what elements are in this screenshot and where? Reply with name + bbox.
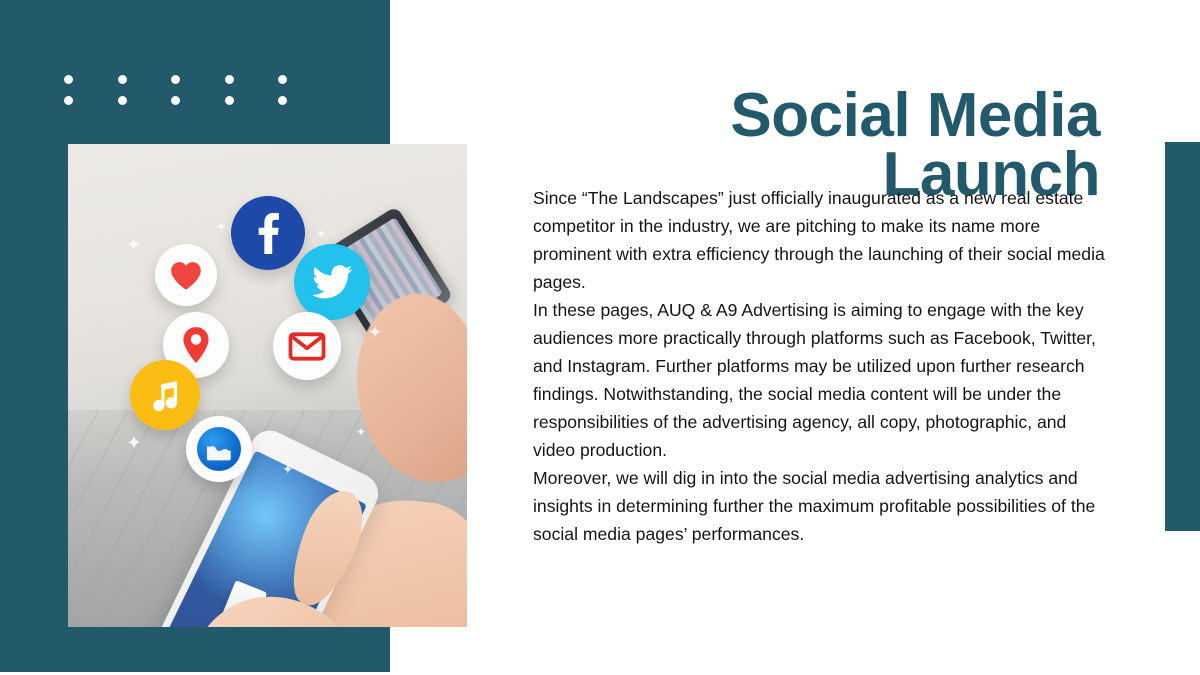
twitter-glyph [311, 265, 353, 300]
decorative-dot [278, 75, 287, 84]
location-pin-glyph [181, 326, 211, 364]
sparkle-icon: ✦ [216, 220, 227, 233]
sparkle-icon: ✦ [316, 228, 326, 240]
sparkle-icon: ✦ [282, 462, 294, 476]
paragraph-2: In these pages, AUQ & A9 Advertising is … [533, 296, 1113, 464]
heart-icon [155, 244, 217, 306]
facebook-icon [231, 196, 305, 270]
sparkle-icon: ✦ [126, 434, 142, 453]
right-teal-accent-bar [1165, 142, 1200, 531]
sparkle-icon: ✦ [356, 426, 366, 438]
sparkle-icon: ✦ [126, 236, 141, 254]
music-note-glyph [148, 378, 182, 412]
social-media-photo: ✦ ✦ ✦ ✦ ✦ ✦ ✦ ✦ [68, 144, 467, 627]
dot-grid-decoration [64, 75, 332, 117]
mail-glyph [288, 332, 326, 361]
paragraph-3: Moreover, we will dig in into the social… [533, 464, 1113, 548]
music-note-icon [130, 360, 200, 430]
decorative-dot [278, 96, 287, 105]
decorative-dot [171, 96, 180, 105]
decorative-dot [225, 96, 234, 105]
decorative-dot [225, 75, 234, 84]
globe-glyph [197, 427, 241, 471]
decorative-dot [171, 75, 180, 84]
decorative-dot [64, 96, 73, 105]
decorative-dot [118, 96, 127, 105]
sparkle-icon: ✦ [368, 324, 382, 341]
mail-icon [273, 312, 341, 380]
facebook-glyph [257, 212, 279, 254]
decorative-dot [64, 75, 73, 84]
heart-glyph [169, 260, 203, 291]
globe-icon [186, 416, 252, 482]
twitter-icon [294, 244, 370, 320]
paragraph-1: Since “The Landscapes” just officially i… [533, 184, 1113, 296]
body-copy: Since “The Landscapes” just officially i… [533, 184, 1113, 548]
decorative-dot [118, 75, 127, 84]
